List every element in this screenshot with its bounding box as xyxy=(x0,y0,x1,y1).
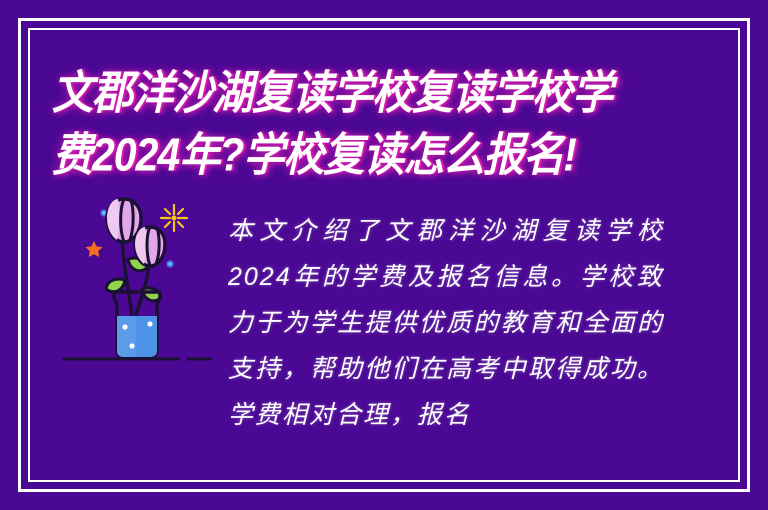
page-title: 文郡洋沙湖复读学校复读学校学 费2024年?学校复读怎么报名! xyxy=(52,58,712,182)
flower-vase-illustration xyxy=(62,196,212,368)
title-line-2: 费2024年?学校复读怎么报名! xyxy=(52,120,712,189)
sparkle-star-gold xyxy=(161,205,187,231)
star-orange xyxy=(86,241,103,257)
body-paragraph-container: 本文介绍了文郡洋沙湖复读学校2024年的学费及报名信息。学校致力于为学生提供优质… xyxy=(228,208,664,456)
poster-canvas: 文郡洋沙湖复读学校复读学校学 费2024年?学校复读怎么报名! 本文介绍了文郡洋… xyxy=(0,0,768,510)
tulip-flower-2 xyxy=(135,227,165,266)
dot-blue-right xyxy=(166,260,173,267)
title-line-1: 文郡洋沙湖复读学校复读学校学 xyxy=(52,58,712,127)
body-paragraph: 本文介绍了文郡洋沙湖复读学校2024年的学费及报名信息。学校致力于为学生提供优质… xyxy=(228,208,664,438)
